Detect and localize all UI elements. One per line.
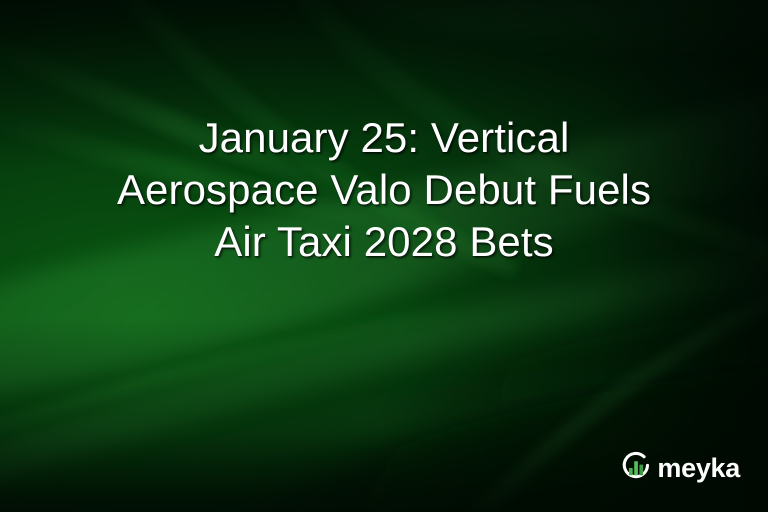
- page-title: January 25: Vertical Aerospace Valo Debu…: [0, 112, 768, 268]
- title-line-2: Aerospace Valo Debut Fuels: [24, 164, 744, 216]
- meyka-logo: meyka: [619, 450, 740, 484]
- social-share-card: January 25: Vertical Aerospace Valo Debu…: [0, 0, 768, 512]
- title-line-1: January 25: Vertical: [24, 112, 744, 164]
- bar-chart-circle-icon: [619, 450, 653, 484]
- logo-wordmark: meyka: [657, 455, 740, 482]
- title-line-3: Air Taxi 2028 Bets: [24, 216, 744, 268]
